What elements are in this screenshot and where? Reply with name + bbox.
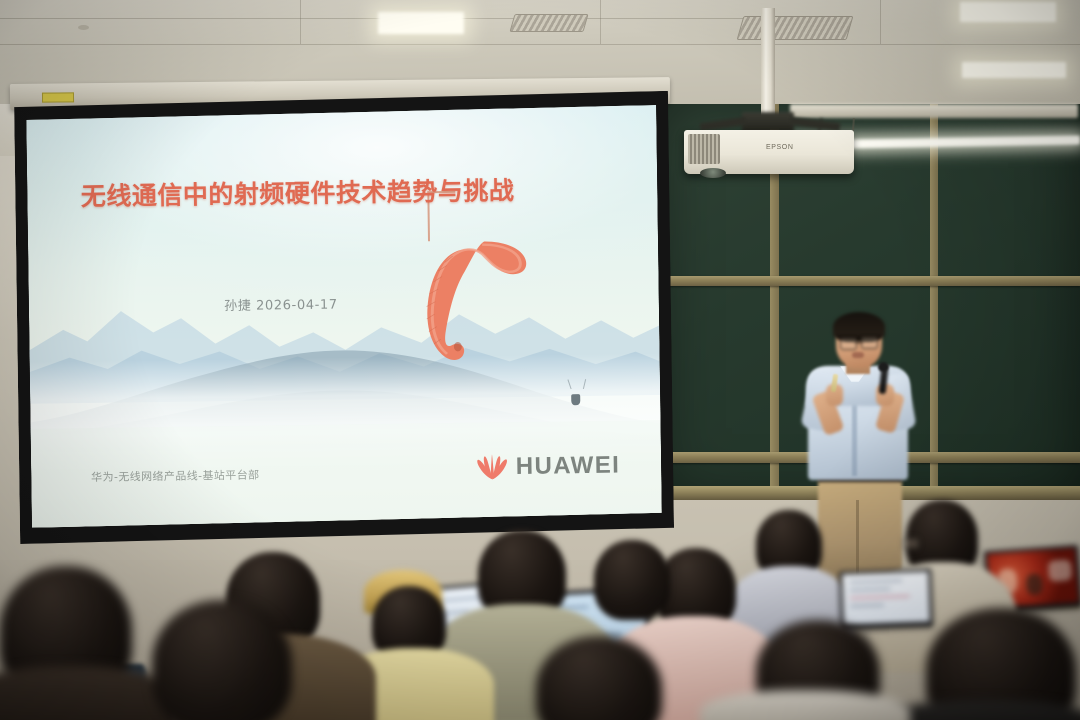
ceiling-seam	[600, 0, 601, 44]
smoke-detector-icon	[78, 25, 89, 30]
ceiling-seam	[880, 0, 881, 44]
screen-surface: 无线通信中的射频硬件技术趋势与挑战 孙捷 2026-04-17 华为-无线网络产…	[26, 105, 662, 528]
lecture-hall-photo: EPSON	[0, 0, 1080, 720]
huawei-petal-icon	[477, 454, 507, 480]
slide-paraglider-canopy	[393, 227, 534, 370]
laptop-document	[839, 568, 933, 629]
laptop-document-screen	[842, 572, 930, 625]
presenter-glasses	[840, 338, 857, 350]
huawei-logo: HUAWEI	[477, 451, 621, 481]
panel-light	[962, 62, 1066, 78]
housing-label	[42, 92, 74, 102]
ceiling-seam	[0, 44, 1080, 45]
chalkboard-divider	[930, 96, 938, 486]
audience-head	[152, 600, 292, 720]
projector-brand-label: EPSON	[766, 144, 794, 151]
projector-vent	[688, 134, 720, 164]
audience-glasses	[903, 538, 919, 549]
presenter-glasses	[861, 337, 878, 349]
chalk-tray	[660, 276, 1080, 286]
slide-pilot	[571, 394, 580, 405]
air-vent	[737, 16, 854, 40]
presenter-mouth	[852, 352, 864, 358]
presentation-slide: 无线通信中的射频硬件技术趋势与挑战 孙捷 2026-04-17 华为-无线网络产…	[26, 105, 662, 528]
fluorescent-housing	[790, 104, 1078, 118]
huawei-wordmark: HUAWEI	[516, 451, 621, 480]
slide-title: 无线通信中的射频硬件技术趋势与挑战	[81, 171, 515, 213]
projector-lens	[700, 168, 726, 178]
slide-subtitle: 孙捷 2026-04-17	[224, 294, 338, 315]
panel-light	[960, 2, 1056, 22]
slide-footer: 华为-无线网络产品线-基站平台部	[91, 467, 260, 485]
ceiling-seam	[300, 0, 301, 44]
projector-bracket	[742, 112, 794, 132]
microphone-head	[878, 362, 889, 372]
glasses-bridge	[855, 342, 862, 343]
panel-light	[378, 12, 464, 34]
projector-mount-pole	[761, 8, 775, 120]
audience-head	[594, 540, 670, 620]
projection-screen: 无线通信中的射频硬件技术趋势与挑战 孙捷 2026-04-17 华为-无线网络产…	[14, 91, 674, 544]
air-vent	[509, 14, 588, 32]
